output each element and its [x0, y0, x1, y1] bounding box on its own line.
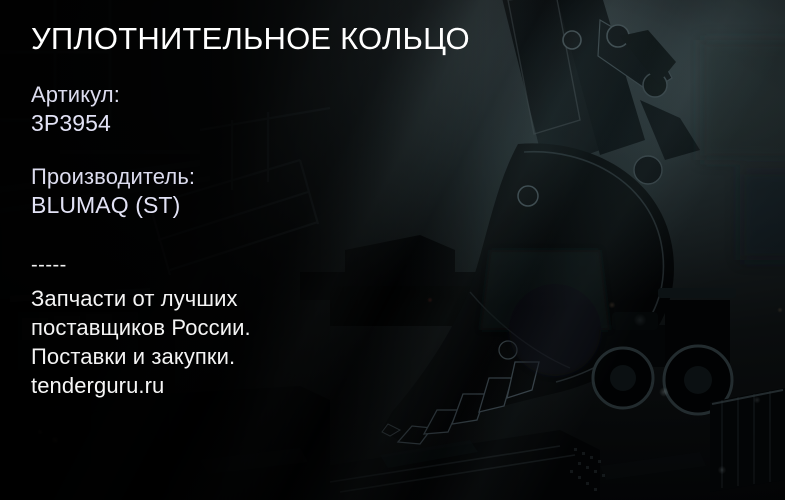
crate-shape [710, 388, 785, 492]
tagline-line-1: Запчасти от лучших [31, 284, 560, 313]
section-divider: ----- [31, 255, 560, 275]
manufacturer-value: BLUMAQ (ST) [31, 191, 560, 221]
sku-label: Артикул: [31, 80, 560, 109]
site-url[interactable]: tenderguru.ru [31, 371, 560, 400]
card-content: УПЛОТНИТЕЛЬНОЕ КОЛЬЦО Артикул: 3P3954 Пр… [0, 0, 560, 401]
tagline-line-2: поставщиков России. [31, 313, 560, 342]
sku-value: 3P3954 [31, 109, 560, 139]
product-promo-card: УПЛОТНИТЕЛЬНОЕ КОЛЬЦО Артикул: 3P3954 Пр… [0, 0, 785, 500]
manufacturer-field: Производитель: BLUMAQ (ST) [31, 162, 560, 221]
product-title: УПЛОТНИТЕЛЬНОЕ КОЛЬЦО [31, 22, 560, 57]
tagline-line-3: Поставки и закупки. [31, 342, 560, 371]
sku-field: Артикул: 3P3954 [31, 80, 560, 139]
blurred-machinery-shape [700, 40, 785, 260]
manufacturer-label: Производитель: [31, 162, 560, 191]
tagline-block: Запчасти от лучших поставщиков России. П… [31, 284, 560, 401]
